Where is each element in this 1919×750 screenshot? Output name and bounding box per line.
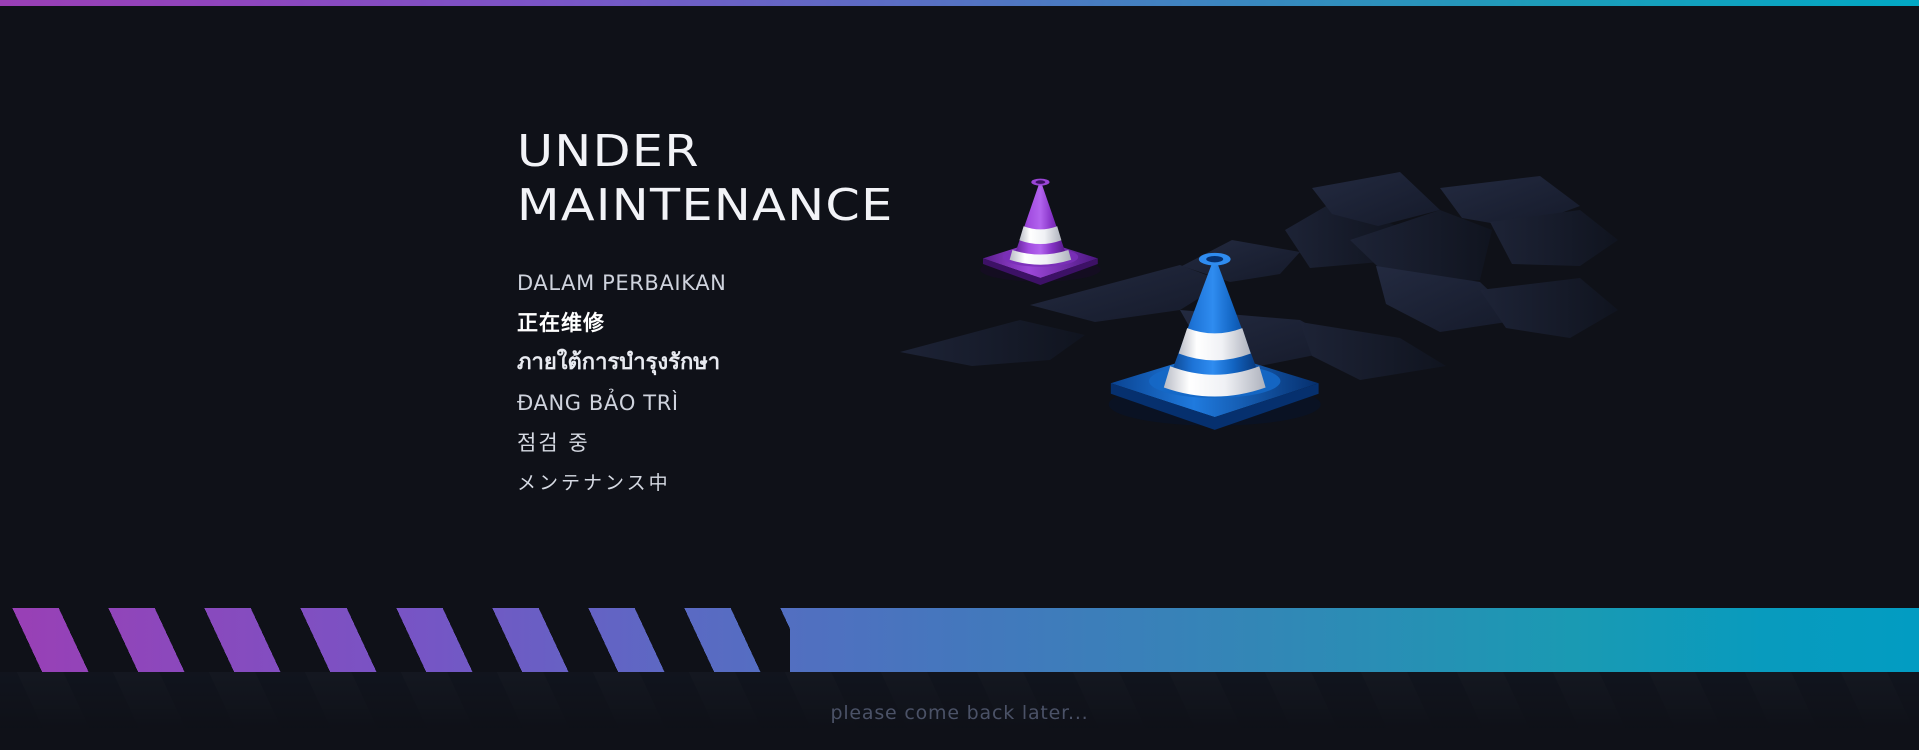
cracked-ground-artwork	[880, 170, 1620, 530]
maintenance-page: UNDER MAINTENANCE DALAM PERBAIKAN 正在维修 ภ…	[0, 0, 1919, 750]
footer-note: please come back later...	[0, 702, 1919, 724]
small-cone	[980, 179, 1100, 285]
hazard-stripe-band	[0, 608, 1919, 672]
hazard-stripe-mask	[0, 608, 790, 672]
top-gradient-rule	[0, 0, 1919, 6]
